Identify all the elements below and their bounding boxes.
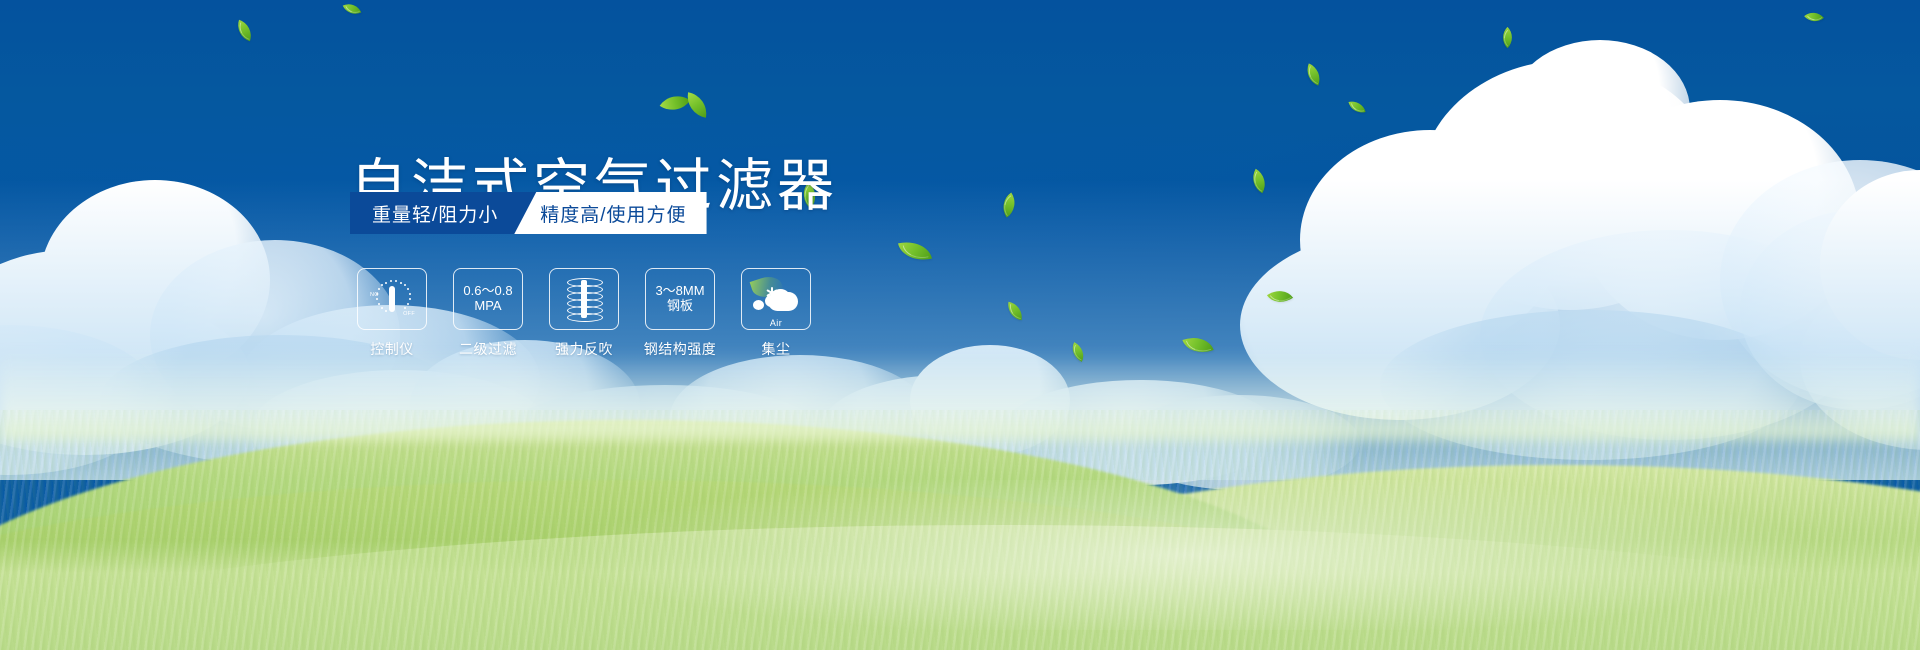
pressure-text-icon: 0.6～0.8	[463, 284, 512, 299]
feature-item-filtration[interactable]: 0.6～0.8 MPA 二级过滤	[452, 268, 524, 359]
feature-label-filtration: 二级过滤	[459, 339, 517, 359]
steel-plate-text-icon: 3～8MM	[655, 284, 704, 299]
feature-item-blowback[interactable]: 强力反吹	[548, 268, 620, 359]
feature-box-filtration: 0.6～0.8 MPA	[453, 268, 523, 330]
feature-item-controller[interactable]: NO OFF 控制仪	[356, 268, 428, 359]
feature-list: NO OFF 控制仪 0.6～0.8 MPA 二级过滤	[356, 268, 812, 359]
feature-label-blowback: 强力反吹	[555, 339, 613, 359]
steel-plate-unit-text: 钢板	[667, 299, 693, 314]
cloud-air-icon: Air	[752, 279, 800, 319]
dial-on-label: NO	[370, 292, 379, 298]
title-leaf-left	[660, 88, 691, 119]
feature-item-dust[interactable]: Air 集尘	[740, 268, 812, 359]
feature-label-steel: 钢结构强度	[644, 339, 717, 359]
banner-content: 自洁式空气过滤器 重量轻/阻力小 精度高/使用方便	[0, 0, 1920, 650]
tag-row: 重量轻/阻力小 精度高/使用方便	[350, 192, 707, 234]
feature-box-dust: Air	[741, 268, 811, 330]
feature-item-steel[interactable]: 3～8MM 钢板 钢结构强度	[644, 268, 716, 359]
pressure-unit-text: MPA	[474, 299, 501, 314]
feature-label-controller: 控制仪	[370, 339, 414, 359]
tag-primary: 重量轻/阻力小	[350, 192, 536, 234]
title-leaf-right	[684, 92, 709, 117]
tag-secondary: 精度高/使用方便	[514, 192, 706, 234]
feature-box-blowback	[549, 268, 619, 330]
feature-box-steel: 3～8MM 钢板	[645, 268, 715, 330]
feature-box-controller: NO OFF	[357, 268, 427, 330]
dial-off-label: OFF	[403, 311, 415, 317]
air-label: Air	[770, 318, 782, 328]
feature-label-dust: 集尘	[762, 339, 791, 359]
hero-banner: 自洁式空气过滤器 重量轻/阻力小 精度高/使用方便	[0, 0, 1920, 650]
coil-blowback-icon	[567, 278, 601, 320]
dial-switch-icon: NO OFF	[370, 279, 414, 319]
